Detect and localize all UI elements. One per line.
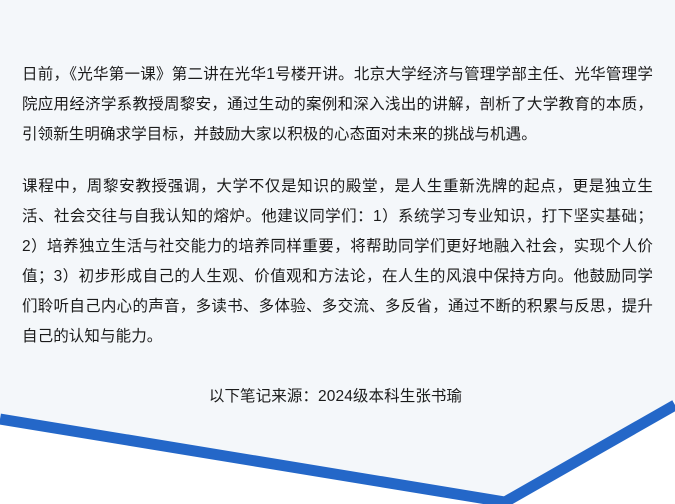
article-paragraph-1: 日前，《光华第一课》第二讲在光华1号楼开讲。北京大学经济与管理学部主任、光华管理… bbox=[22, 60, 653, 150]
article-body: 日前，《光华第一课》第二讲在光华1号楼开讲。北京大学经济与管理学部主任、光华管理… bbox=[0, 0, 675, 410]
note-source-caption: 以下笔记来源：2024级本科生张书瑜 bbox=[22, 384, 653, 410]
article-paragraph-2: 课程中，周黎安教授强调，大学不仅是知识的殿堂，是人生重新洗牌的起点，更是独立生活… bbox=[22, 172, 653, 352]
